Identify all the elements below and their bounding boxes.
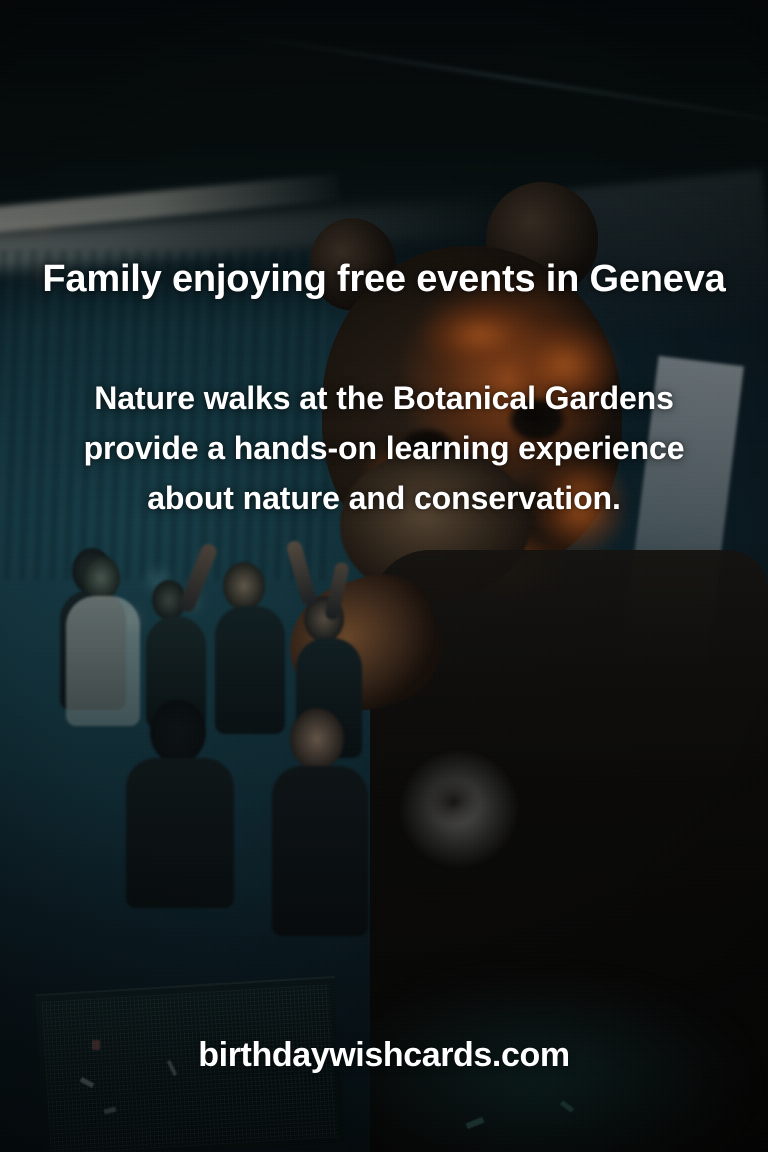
headline-title: Family enjoying free events in Geneva [24,254,744,305]
social-quote-card: Family enjoying free events in Geneva Na… [0,0,768,1152]
site-watermark: birthdaywishcards.com [0,1036,768,1075]
text-overlay: Family enjoying free events in Geneva Na… [0,0,768,1152]
body-paragraph: Nature walks at the Botanical Gardens pr… [64,374,704,524]
